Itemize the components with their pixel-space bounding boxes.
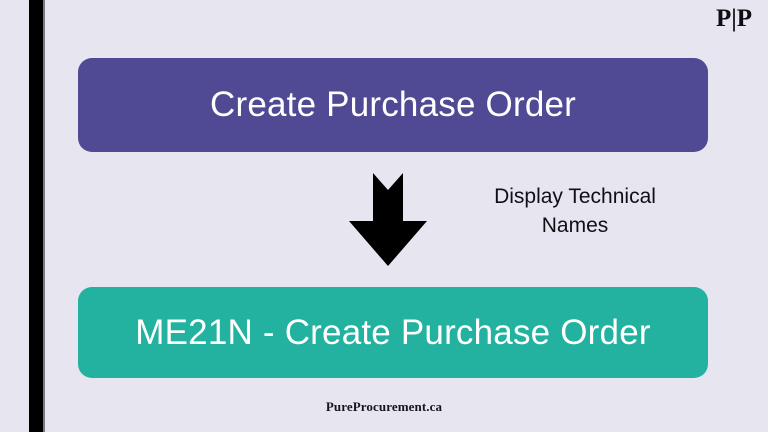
down-arrow-glyph <box>348 173 428 267</box>
footer-credit: PureProcurement.ca <box>0 399 768 415</box>
down-arrow-icon <box>348 173 428 267</box>
arrow-caption: Display Technical Names <box>455 183 695 241</box>
left-accent-bar <box>29 0 43 432</box>
business-name-box: Create Purchase Order <box>78 58 708 152</box>
slide-canvas: P|P Create Purchase Order Display Techni… <box>0 0 768 432</box>
arrow-caption-line-1: Display Technical <box>455 183 695 212</box>
technical-name-box: ME21N - Create Purchase Order <box>78 287 708 378</box>
brand-logo: P|P <box>716 6 752 31</box>
technical-name-label: ME21N - Create Purchase Order <box>135 313 650 353</box>
left-accent-bar-edge <box>43 0 45 432</box>
business-name-label: Create Purchase Order <box>210 85 576 125</box>
arrow-caption-line-2: Names <box>455 212 695 241</box>
